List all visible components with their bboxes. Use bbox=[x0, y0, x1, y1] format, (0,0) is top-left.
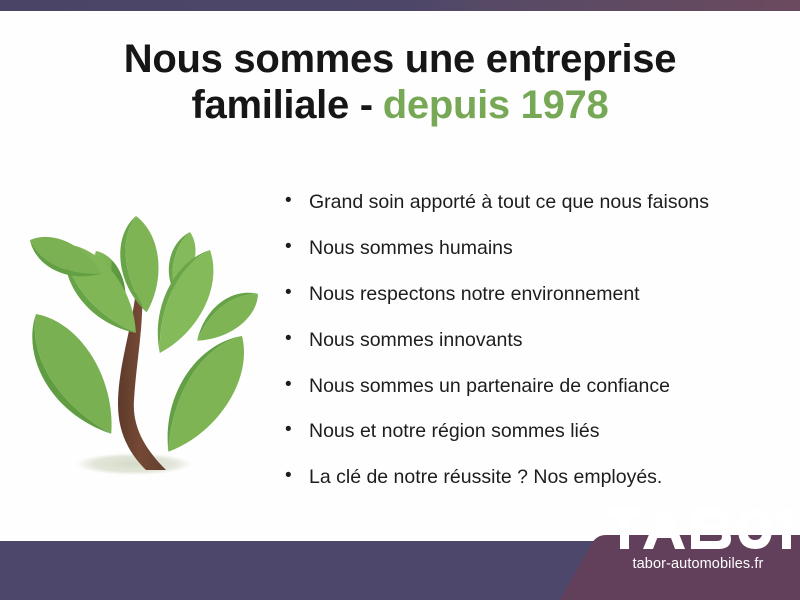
list-item: Grand soin apporté à tout ce que nous fa… bbox=[283, 190, 783, 214]
brand-wordmark bbox=[596, 508, 800, 550]
title-line-1-text: Nous sommes une entreprise bbox=[124, 37, 676, 81]
title-line-2-plain: familiale - bbox=[192, 83, 373, 127]
list-item: Nous et notre région sommes liés bbox=[283, 419, 783, 443]
list-item: Nous sommes un partenaire de confiance bbox=[283, 374, 783, 398]
tree-shadow bbox=[76, 453, 192, 475]
top-accent-bar bbox=[0, 0, 800, 11]
tree-illustration bbox=[18, 188, 270, 484]
brand-logo: tabor-automobiles.fr bbox=[596, 508, 800, 572]
list-item: Nous respectons notre environnement bbox=[283, 282, 783, 306]
title-line-2-accent: depuis 1978 bbox=[383, 83, 609, 127]
page-title: Nous sommes une entreprise familiale -de… bbox=[0, 36, 800, 129]
slide-canvas: Nous sommes une entreprise familiale -de… bbox=[0, 0, 800, 600]
list-item: La clé de notre réussite ? Nos employés. bbox=[283, 465, 783, 489]
list-item: Nous sommes humains bbox=[283, 236, 783, 260]
title-line-2: familiale -depuis 1978 bbox=[0, 82, 800, 128]
title-line-1: Nous sommes une entreprise bbox=[0, 36, 800, 82]
list-item: Nous sommes innovants bbox=[283, 328, 783, 352]
brand-url: tabor-automobiles.fr bbox=[596, 556, 800, 572]
value-bullet-list: Grand soin apporté à tout ce que nous fa… bbox=[283, 190, 783, 511]
